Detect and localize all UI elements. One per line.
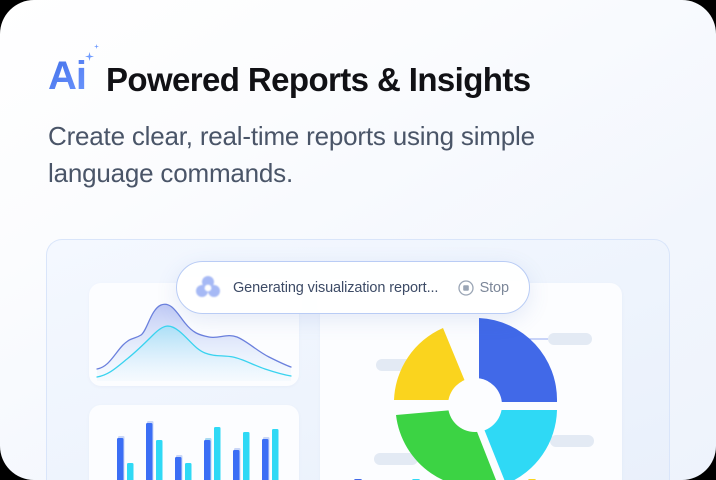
title-row: Ai Powered Reports & Insights <box>48 44 668 96</box>
bar-group-4 <box>204 427 221 480</box>
status-message: Generating visualization report... <box>233 280 458 296</box>
bar-a <box>117 438 124 480</box>
bar-group-6 <box>262 429 279 480</box>
generating-status-pill: Generating visualization report... Stop <box>176 261 530 314</box>
bar-a <box>175 457 182 480</box>
ai-logo: Ai <box>48 56 94 96</box>
bar-b <box>214 427 221 480</box>
stop-button[interactable]: Stop <box>458 280 513 296</box>
bar-b <box>127 463 134 480</box>
callout-pill-cyan <box>550 435 594 447</box>
promo-card: Ai Powered Reports & Insights Create cle… <box>0 0 716 480</box>
bar-b <box>185 463 192 480</box>
bar-b <box>243 432 250 480</box>
bar-a <box>233 450 240 480</box>
bar-group-1 <box>117 436 134 480</box>
bar-b <box>272 429 279 480</box>
page-subtitle: Create clear, real-time reports using si… <box>48 118 608 192</box>
callout-pill-green <box>374 453 418 465</box>
bar-a <box>146 423 153 480</box>
sparkle-small-icon <box>94 44 99 49</box>
page-title: Powered Reports & Insights <box>106 63 530 96</box>
loading-spinner-icon <box>195 275 221 301</box>
sparkle-icon <box>85 52 94 61</box>
bar-group-2 <box>146 421 163 480</box>
bar-chart <box>89 405 299 480</box>
donut-hole <box>448 378 502 432</box>
ai-logo-text: Ai <box>48 54 86 98</box>
header: Ai Powered Reports & Insights Create cle… <box>48 44 668 192</box>
bar-b <box>156 440 163 480</box>
bar-chart-card <box>89 405 299 480</box>
bar-group-3 <box>175 455 192 480</box>
callout-pill-blue <box>548 333 592 345</box>
spinner-center <box>205 284 212 291</box>
stop-label[interactable]: Stop <box>480 280 509 296</box>
bar-a <box>204 440 211 480</box>
bar-group-5 <box>233 432 250 480</box>
stop-circle-icon[interactable] <box>458 280 474 296</box>
bar-a <box>262 439 269 480</box>
